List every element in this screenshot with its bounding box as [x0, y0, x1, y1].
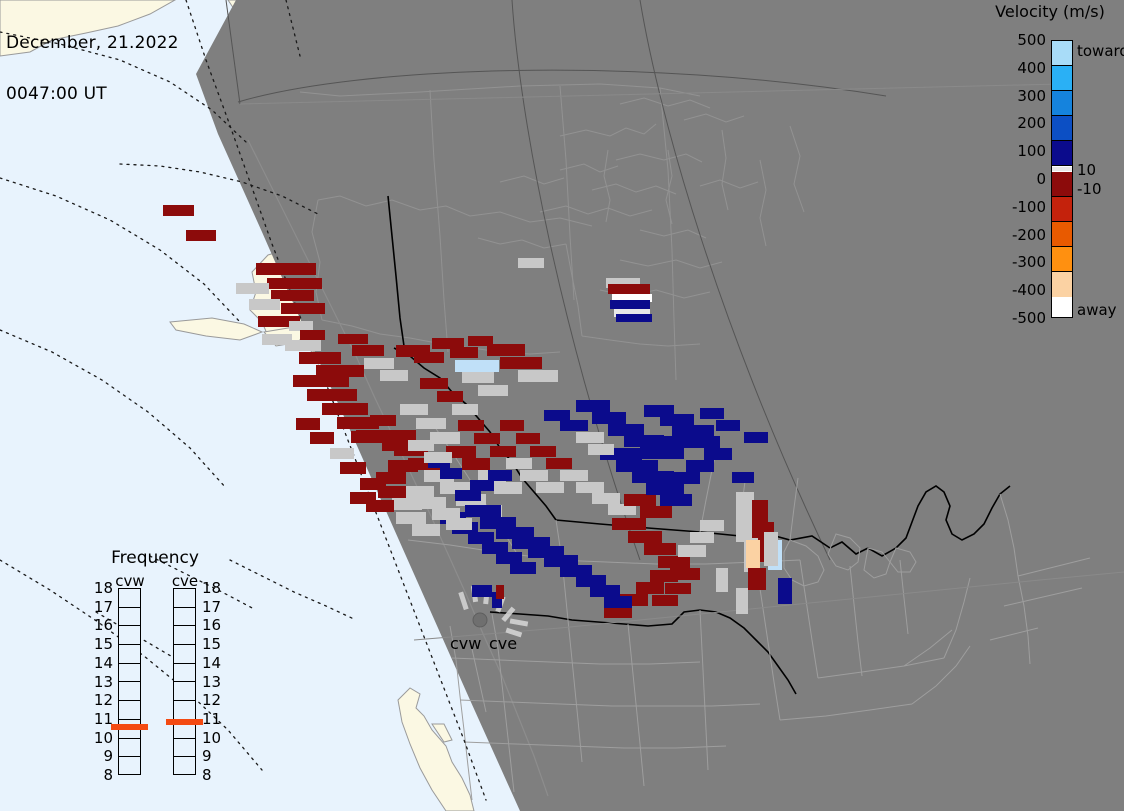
velocity-cell	[576, 432, 604, 443]
frequency-tick-left: 8	[89, 768, 113, 783]
velocity-cell	[293, 375, 349, 387]
velocity-cell	[186, 230, 216, 241]
velocity-cell	[356, 430, 382, 441]
velocity-cell	[640, 447, 684, 459]
velocity-cell	[470, 480, 494, 491]
velocity-toward-label: toward	[1077, 44, 1124, 59]
frequency-tick-left: 15	[89, 637, 113, 652]
velocity-cell	[744, 432, 768, 443]
velocity-colorbar-tick: -400	[990, 283, 1046, 298]
velocity-cell	[440, 468, 462, 479]
velocity-cell	[338, 334, 368, 344]
velocity-cell	[646, 483, 684, 495]
velocity-cell	[604, 596, 632, 608]
velocity-cell	[546, 458, 572, 469]
velocity-cell	[530, 446, 556, 457]
timestamp: December, 21.2022 0047:00 UT	[6, 1, 179, 137]
velocity-cell	[360, 478, 386, 490]
velocity-cell	[690, 532, 714, 543]
velocity-cell	[652, 595, 678, 606]
velocity-cell	[490, 446, 516, 457]
velocity-cell	[406, 486, 434, 498]
velocity-inner-lower-label: -10	[1077, 182, 1102, 197]
velocity-cell	[536, 482, 564, 493]
velocity-colorbar-segment	[1052, 247, 1072, 272]
velocity-cell	[644, 405, 674, 417]
velocity-colorbar-title: Velocity (m/s)	[980, 2, 1120, 21]
velocity-cell	[672, 472, 700, 484]
velocity-cell	[249, 299, 280, 310]
timestamp-time: 0047:00 UT	[6, 86, 179, 103]
frequency-bar-segment	[174, 589, 195, 608]
velocity-colorbar-tick: 100	[990, 144, 1046, 159]
velocity-cell	[452, 404, 478, 415]
velocity-cell	[732, 472, 754, 483]
velocity-cell	[458, 420, 484, 431]
velocity-cell	[285, 340, 321, 351]
velocity-cell	[778, 578, 792, 604]
velocity-cell	[608, 424, 644, 436]
frequency-bar-cvw	[118, 588, 141, 775]
velocity-cell	[392, 498, 422, 510]
velocity-cell	[487, 344, 525, 356]
velocity-cell	[474, 433, 500, 444]
velocity-cell	[560, 470, 588, 481]
velocity-cell	[370, 415, 396, 426]
frequency-bar-segment	[174, 701, 195, 720]
velocity-cell	[616, 314, 652, 322]
velocity-cell	[704, 448, 732, 460]
frequency-marker-cve	[166, 719, 203, 725]
velocity-cell	[465, 505, 501, 517]
frequency-tick-left: 12	[89, 693, 113, 708]
velocity-cell	[592, 493, 620, 504]
velocity-cell	[500, 420, 524, 431]
velocity-colorbar-segment	[1052, 116, 1072, 141]
velocity-cell	[281, 303, 325, 314]
frequency-bar-segment	[174, 626, 195, 645]
timestamp-date: December, 21.2022	[6, 35, 179, 52]
frequency-bar-segment	[119, 682, 140, 701]
velocity-cell	[352, 345, 384, 356]
frequency-tick-right: 12	[202, 693, 226, 708]
velocity-cell	[340, 462, 366, 474]
velocity-cell	[478, 385, 508, 396]
velocity-cell	[544, 410, 570, 421]
velocity-cell	[267, 278, 322, 289]
velocity-cell	[330, 448, 354, 459]
frequency-tick-left: 18	[89, 581, 113, 596]
frequency-tick-right: 16	[202, 618, 226, 633]
frequency-bar-segment	[174, 608, 195, 627]
velocity-cell	[592, 412, 626, 424]
frequency-bar-segment	[119, 589, 140, 608]
frequency-bar-segment	[119, 608, 140, 627]
velocity-cell	[608, 284, 650, 294]
velocity-cell	[496, 585, 504, 599]
velocity-cell	[424, 452, 452, 463]
velocity-cell	[686, 460, 714, 472]
velocity-colorbar-tick: -500	[990, 311, 1046, 326]
velocity-cell	[518, 258, 544, 268]
velocity-cell	[748, 568, 766, 590]
velocity-cell	[516, 433, 540, 444]
velocity-cell	[650, 570, 678, 582]
velocity-cell	[382, 440, 408, 451]
superdarn-velocity-map: December, 21.2022 0047:00 UT cvw cve Vel…	[0, 0, 1124, 811]
frequency-tick-right: 8	[202, 768, 226, 783]
frequency-tick-right: 15	[202, 637, 226, 652]
velocity-colorbar-segment	[1052, 172, 1072, 197]
frequency-bar-segment	[174, 664, 195, 683]
frequency-bar-segment	[174, 757, 195, 776]
velocity-cell	[400, 404, 428, 415]
velocity-colorbar-tick: 500	[990, 33, 1046, 48]
velocity-cell	[408, 440, 434, 451]
velocity-cell	[307, 389, 357, 401]
velocity-cell	[494, 482, 522, 494]
frequency-tick-left: 13	[89, 675, 113, 690]
frequency-tick-right: 17	[202, 600, 226, 615]
velocity-cell	[299, 352, 341, 364]
velocity-away-label: away	[1077, 303, 1117, 318]
velocity-cell	[665, 583, 691, 594]
velocity-cell	[624, 494, 656, 506]
velocity-colorbar-tick: -100	[990, 200, 1046, 215]
velocity-colorbar-segment	[1052, 272, 1072, 297]
velocity-cell	[644, 543, 676, 555]
velocity-colorbar-tick: 300	[990, 89, 1046, 104]
velocity-cell	[716, 568, 728, 592]
velocity-cell	[364, 358, 394, 369]
velocity-colorbar-segment	[1052, 222, 1072, 247]
velocity-cell	[462, 372, 494, 383]
velocity-cell	[700, 520, 724, 531]
frequency-tick-right: 13	[202, 675, 226, 690]
velocity-cell	[576, 400, 610, 412]
frequency-tick-left: 10	[89, 731, 113, 746]
frequency-bar-segment	[119, 626, 140, 645]
velocity-cell	[672, 425, 714, 437]
velocity-colorbar-swatches	[1051, 40, 1073, 318]
velocity-cell	[736, 588, 748, 614]
velocity-colorbar-tick: 400	[990, 61, 1046, 76]
velocity-cell	[418, 497, 446, 509]
frequency-tick-right: 18	[202, 581, 226, 596]
velocity-cell	[658, 556, 690, 568]
velocity-cell	[560, 420, 588, 431]
frequency-tick-left: 9	[89, 749, 113, 764]
velocity-cell	[455, 360, 499, 372]
velocity-cell	[678, 545, 706, 557]
velocity-cell	[437, 391, 463, 402]
frequency-tick-left: 11	[89, 712, 113, 727]
frequency-tick-left: 16	[89, 618, 113, 633]
frequency-bar-segment	[174, 645, 195, 664]
velocity-cell	[412, 524, 440, 536]
velocity-cell	[256, 263, 316, 275]
velocity-cell	[300, 330, 325, 340]
velocity-cell	[636, 582, 664, 594]
frequency-bar-segment	[174, 739, 195, 758]
velocity-cell	[716, 420, 740, 431]
velocity-cell	[455, 490, 481, 501]
frequency-bar-segment	[119, 739, 140, 758]
velocity-cell	[690, 436, 720, 448]
frequency-legend-title: Frequency	[85, 548, 225, 568]
velocity-colorbar-tick: -200	[990, 228, 1046, 243]
velocity-cell	[322, 403, 368, 415]
velocity-cell	[450, 347, 478, 358]
velocity-colorbar-tick: 200	[990, 116, 1046, 131]
velocity-cell	[380, 370, 408, 381]
velocity-cell	[610, 300, 650, 309]
velocity-cell	[628, 531, 662, 543]
velocity-cell	[700, 408, 724, 419]
velocity-cell	[366, 500, 394, 512]
velocity-cell	[746, 540, 760, 568]
frequency-marker-cvw	[111, 724, 148, 730]
velocity-colorbar-tick: -300	[990, 255, 1046, 270]
site-label-cve: cve	[489, 634, 517, 653]
frequency-legend: Frequency cvwcve181817171616151514141313…	[85, 545, 250, 795]
velocity-cell	[396, 512, 426, 524]
velocity-colorbar-segment	[1052, 197, 1072, 222]
velocity-colorbar-segment	[1052, 66, 1072, 91]
site-label-cvw: cvw	[450, 634, 481, 653]
velocity-cell	[163, 205, 194, 216]
velocity-cell	[588, 444, 614, 455]
velocity-colorbar-segment	[1052, 41, 1072, 66]
frequency-tick-right: 11	[202, 712, 226, 727]
velocity-cell	[736, 492, 754, 542]
velocity-cell	[420, 378, 448, 389]
velocity-colorbar-segment	[1052, 91, 1072, 116]
frequency-bar-segment	[174, 682, 195, 701]
velocity-inner-upper-label: 10	[1077, 163, 1096, 178]
frequency-tick-right: 10	[202, 731, 226, 746]
velocity-cell	[446, 518, 472, 530]
velocity-cell	[520, 470, 548, 481]
velocity-cell	[590, 585, 620, 597]
velocity-cell	[506, 458, 532, 469]
velocity-cell	[616, 460, 658, 472]
velocity-cell	[500, 357, 542, 369]
frequency-bar-segment	[119, 645, 140, 664]
frequency-tick-left: 17	[89, 600, 113, 615]
velocity-colorbar: Velocity (m/s) 5004003002001000-100-200-…	[975, 0, 1124, 340]
velocity-cell	[472, 585, 492, 597]
velocity-cell	[640, 506, 672, 518]
frequency-bar-cve	[173, 588, 196, 775]
velocity-cell	[430, 432, 460, 444]
velocity-colorbar-tick: 0	[990, 172, 1046, 187]
frequency-tick-right: 14	[202, 656, 226, 671]
velocity-cell	[612, 518, 646, 530]
velocity-cell	[236, 283, 269, 294]
velocity-cell	[462, 458, 490, 470]
velocity-cell	[632, 471, 674, 483]
velocity-cell	[296, 418, 320, 430]
velocity-cell	[416, 418, 446, 429]
velocity-colorbar-segment	[1052, 141, 1072, 166]
frequency-bar-segment	[119, 664, 140, 683]
velocity-cell	[310, 432, 334, 444]
frequency-bar-segment	[119, 757, 140, 776]
frequency-tick-right: 9	[202, 749, 226, 764]
frequency-bar-segment	[119, 701, 140, 720]
velocity-cell	[414, 352, 444, 363]
velocity-cell	[518, 370, 558, 382]
velocity-cell	[510, 562, 536, 574]
velocity-cell	[576, 482, 604, 493]
velocity-cell	[289, 321, 313, 331]
velocity-cell	[488, 470, 512, 481]
velocity-cell	[660, 494, 692, 506]
velocity-cell	[388, 460, 418, 472]
frequency-tick-left: 14	[89, 656, 113, 671]
velocity-cell	[764, 532, 778, 566]
